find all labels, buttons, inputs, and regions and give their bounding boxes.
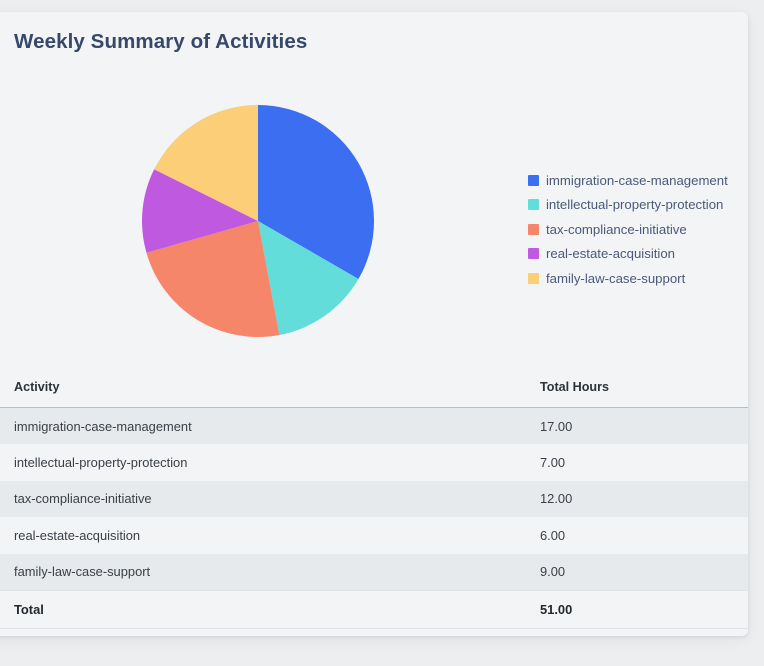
cell-total-hours: 7.00 <box>527 444 748 481</box>
cell-activity: intellectual-property-protection <box>0 444 527 481</box>
table-row: intellectual-property-protection7.00 <box>0 444 748 481</box>
legend-swatch-icon <box>528 224 539 235</box>
cell-activity: immigration-case-management <box>0 408 527 445</box>
summary-card: Weekly Summary of Activities immigration… <box>0 12 748 636</box>
table-row: tax-compliance-initiative12.00 <box>0 481 748 518</box>
cell-total-hours: 12.00 <box>527 481 748 518</box>
table-total-row: Total51.00 <box>0 590 748 628</box>
cell-total-hours: 17.00 <box>527 408 748 445</box>
cell-activity: family-law-case-support <box>0 554 527 591</box>
legend-item-label: family-law-case-support <box>546 272 685 285</box>
cell-total-label: Total <box>0 590 527 628</box>
table-body: immigration-case-management17.00intellec… <box>0 408 748 629</box>
pie-chart-svg <box>142 105 374 337</box>
legend-swatch-icon <box>528 175 539 186</box>
page-title: Weekly Summary of Activities <box>14 30 307 54</box>
cell-total-hours-value: 51.00 <box>527 590 748 628</box>
cell-activity: tax-compliance-initiative <box>0 481 527 518</box>
activities-table-wrap: Activity Total Hours immigration-case-ma… <box>0 370 748 629</box>
legend-swatch-icon <box>528 199 539 210</box>
legend-item[interactable]: family-law-case-support <box>528 266 744 291</box>
activities-table: Activity Total Hours immigration-case-ma… <box>0 370 748 629</box>
legend-item-label: intellectual-property-protection <box>546 198 723 211</box>
table-header-row: Activity Total Hours <box>0 370 748 408</box>
chart-region: immigration-case-managementintellectual-… <box>0 82 748 354</box>
column-header-activity: Activity <box>0 370 527 408</box>
legend-item[interactable]: immigration-case-management <box>528 168 744 193</box>
cell-activity: real-estate-acquisition <box>0 517 527 554</box>
legend-item-label: tax-compliance-initiative <box>546 223 687 236</box>
column-header-total-hours: Total Hours <box>527 370 748 408</box>
legend-swatch-icon <box>528 273 539 284</box>
legend-swatch-icon <box>528 248 539 259</box>
legend-item[interactable]: real-estate-acquisition <box>528 242 744 267</box>
table-row: real-estate-acquisition6.00 <box>0 517 748 554</box>
legend-item-label: immigration-case-management <box>546 174 728 187</box>
legend-item[interactable]: tax-compliance-initiative <box>528 217 744 242</box>
legend-item[interactable]: intellectual-property-protection <box>528 193 744 218</box>
cell-total-hours: 9.00 <box>527 554 748 591</box>
table-row: immigration-case-management17.00 <box>0 408 748 445</box>
table-row: family-law-case-support9.00 <box>0 554 748 591</box>
cell-total-hours: 6.00 <box>527 517 748 554</box>
table-head: Activity Total Hours <box>0 370 748 408</box>
chart-legend: immigration-case-managementintellectual-… <box>528 168 744 291</box>
pie-chart <box>142 105 374 337</box>
legend-item-label: real-estate-acquisition <box>546 247 675 260</box>
